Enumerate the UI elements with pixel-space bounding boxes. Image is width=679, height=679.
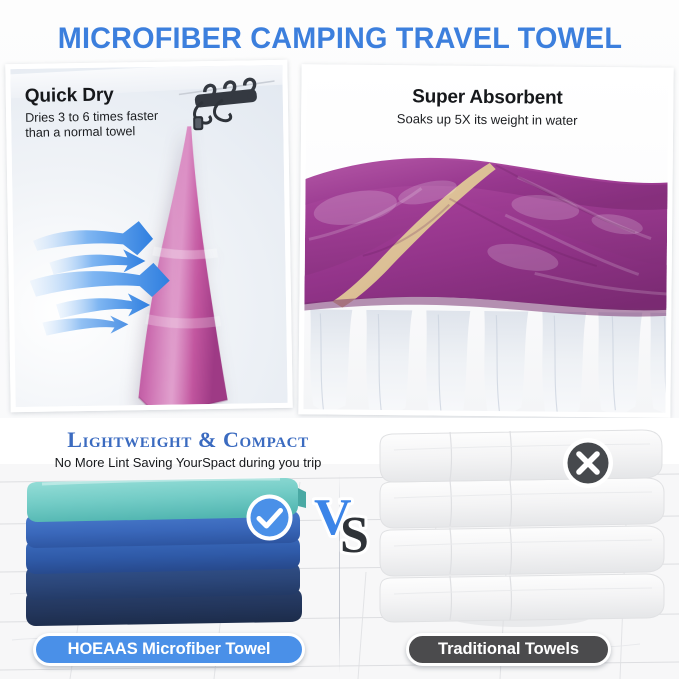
badge-traditional-label: Traditional Towels <box>438 640 579 659</box>
quick-dry-text-block: Quick Dry Dries 3 to 6 times faster than… <box>25 84 216 142</box>
quick-dry-scene: Quick Dry Dries 3 to 6 times faster than… <box>10 65 287 407</box>
x-circle-icon <box>562 437 614 489</box>
super-absorbent-heading: Super Absorbent <box>306 85 668 110</box>
page-title-text: MICROFIBER CAMPING TRAVEL TOWEL <box>57 22 621 56</box>
check-circle-icon <box>245 493 294 542</box>
super-absorbent-subtext: Soaks up 5X its weight in water <box>306 110 668 128</box>
page-title: MICROFIBER CAMPING TRAVEL TOWEL <box>0 18 679 60</box>
svg-text:S: S <box>340 507 369 560</box>
quick-dry-line-2: than a normal towel <box>25 123 215 141</box>
badge-microfiber-label: HOEAAS Microfiber Towel <box>68 640 271 659</box>
traditional-towel-stack-image <box>378 428 670 628</box>
airflow-arrows-icon <box>27 216 219 349</box>
wet-towel-image <box>303 151 668 355</box>
lightweight-text-block: Lightweight & Compact No More Lint Savin… <box>18 428 358 471</box>
badge-traditional-towels[interactable]: Traditional Towels <box>406 633 611 666</box>
versus-mark: V V S S <box>312 492 384 560</box>
lightweight-subtext: No More Lint Saving YourSpact during you… <box>18 455 358 471</box>
super-absorbent-scene: Super Absorbent Soaks up 5X its weight i… <box>303 69 668 412</box>
lightweight-heading: Lightweight & Compact <box>18 428 358 451</box>
panel-quick-dry: Quick Dry Dries 3 to 6 times faster than… <box>5 60 292 412</box>
infographic-canvas: MICROFIBER CAMPING TRAVEL TOWEL <box>0 0 679 679</box>
super-absorbent-text-block: Super Absorbent Soaks up 5X its weight i… <box>306 85 668 128</box>
badge-microfiber-towel[interactable]: HOEAAS Microfiber Towel <box>33 633 305 666</box>
quick-dry-heading: Quick Dry <box>25 84 215 108</box>
panel-super-absorbent: Super Absorbent Soaks up 5X its weight i… <box>298 64 673 418</box>
